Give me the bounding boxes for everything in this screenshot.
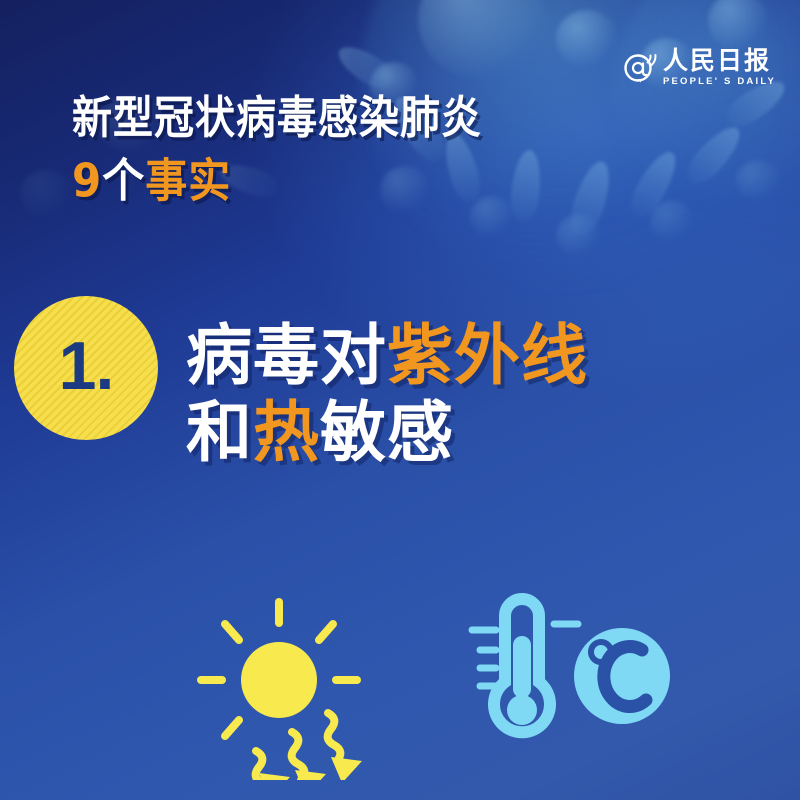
subtitle-word: 事实 <box>145 154 231 208</box>
title-block: 新型冠状病毒感染肺炎 9个事实 <box>72 96 482 200</box>
subtitle: 9个事实 <box>72 158 482 204</box>
headline-line1-orange: 紫外线 <box>387 317 588 394</box>
logo-english-name: PEOPLE' S DAILY <box>663 77 776 87</box>
peoples-daily-logo: 人民日报 PEOPLE' S DAILY <box>623 48 776 87</box>
headline-line2-white-a: 和 <box>186 394 253 471</box>
fact-number-badge: 1. <box>14 296 158 440</box>
fact-headline: 病毒对紫外线 和热敏感 <box>186 322 588 467</box>
poster-canvas: 人民日报 PEOPLE' S DAILY 新型冠状病毒感染肺炎 9个事实 1. … <box>0 0 800 800</box>
page-title: 新型冠状病毒感染肺炎 <box>72 96 482 141</box>
headline-line-1: 病毒对紫外线 <box>186 322 588 389</box>
headline-line1-white: 病毒对 <box>186 317 387 394</box>
fact-number-label: 1. <box>59 332 114 400</box>
subtitle-measure: 个 <box>102 154 145 208</box>
at-speech-bubble-icon <box>623 53 657 87</box>
logo-chinese-name: 人民日报 <box>663 48 776 73</box>
icon-row <box>0 560 800 780</box>
thermometer-icon <box>472 599 578 732</box>
thermometer-celsius-icon-group <box>450 588 680 773</box>
headline-line2-orange: 热 <box>253 394 320 471</box>
headline-line-2: 和热敏感 <box>186 399 588 466</box>
sun-uv-rays-icon <box>196 580 396 785</box>
headline-line2-white-b: 敏感 <box>320 394 454 471</box>
celsius-degree-icon <box>574 628 670 724</box>
subtitle-number: 9 <box>72 154 102 208</box>
